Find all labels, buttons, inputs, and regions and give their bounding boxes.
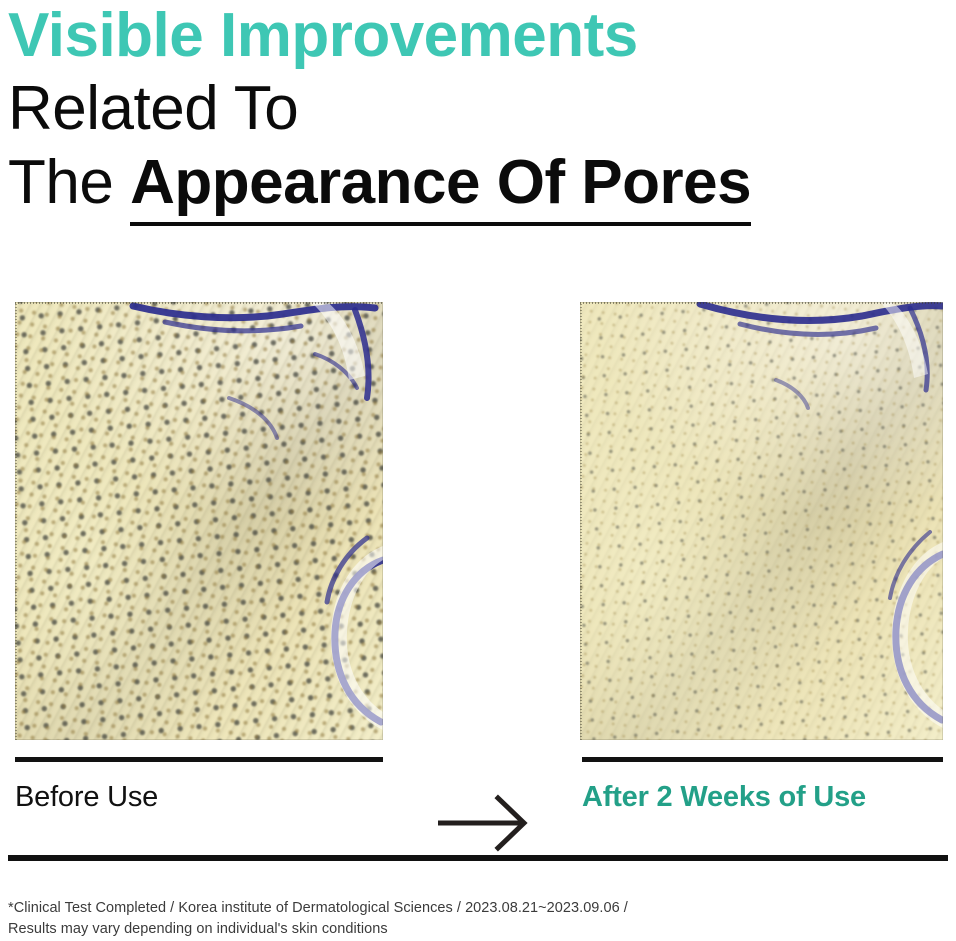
after-caption-rule <box>582 757 943 762</box>
footer-divider <box>8 855 948 861</box>
page-headline: Visible Improvements Related To The Appe… <box>8 0 938 220</box>
after-caption-label: After 2 Weeks of Use <box>582 780 866 814</box>
arrow-right-icon <box>438 794 534 852</box>
footnote-line-2: Results may vary depending on individual… <box>8 919 788 940</box>
footnote-disclaimer: *Clinical Test Completed / Korea institu… <box>8 898 788 940</box>
headline-line-1: Visible Improvements <box>8 0 938 72</box>
before-after-comparison <box>0 302 956 742</box>
before-dermatoscope-guide-lines <box>15 302 383 740</box>
footnote-line-1: *Clinical Test Completed / Korea institu… <box>8 898 788 919</box>
before-caption-label: Before Use <box>15 780 158 814</box>
headline-line-2: Related To <box>8 72 938 146</box>
after-dermatoscope-guide-lines <box>580 302 943 740</box>
headline-line-3-emphasis: Appearance Of Pores <box>130 148 751 226</box>
before-image-panel <box>15 302 383 740</box>
after-image-panel <box>580 302 943 740</box>
headline-line-3: The Appearance Of Pores <box>8 146 938 220</box>
before-caption-rule <box>15 757 383 762</box>
headline-line-3-prefix: The <box>8 148 130 217</box>
